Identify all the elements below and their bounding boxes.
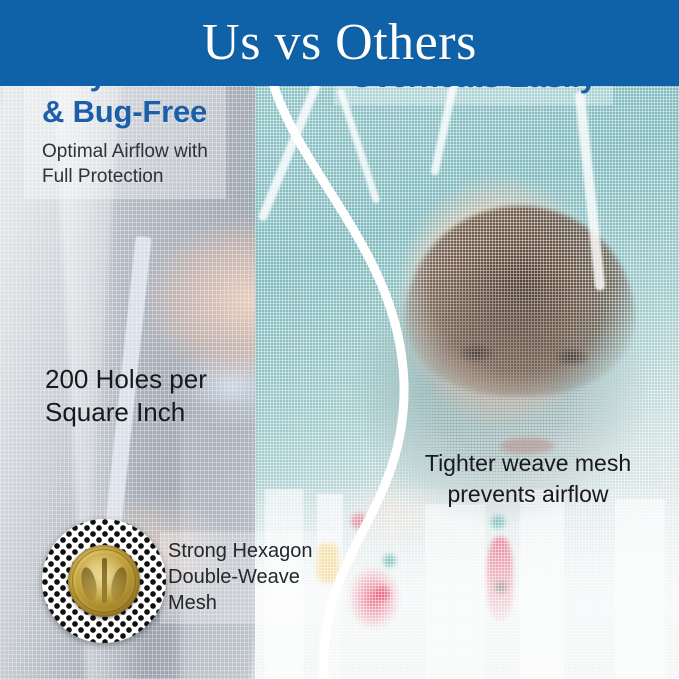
mesh-line3: Mesh xyxy=(168,590,313,616)
coin-icon xyxy=(68,545,140,617)
mesh-line1: Strong Hexagon xyxy=(168,538,313,564)
mesh-line2: Double-Weave xyxy=(168,564,313,590)
comparison-infographic: Us vs Others Stays Cool & Bug-Free Optim… xyxy=(0,0,679,679)
holes-line2: Square Inch xyxy=(45,396,207,429)
right-caption-text: Tighter weave mesh prevents airflow xyxy=(392,448,664,510)
mesh-magnifier-badge xyxy=(42,519,166,643)
right-caption-line2: prevents airflow xyxy=(392,479,664,510)
holes-line1: 200 Holes per xyxy=(45,363,207,396)
left-subheading-line1: Optimal Airflow with xyxy=(42,139,208,164)
left-subheading-line2: Full Protection xyxy=(42,164,208,189)
mesh-description-text: Strong Hexagon Double-Weave Mesh xyxy=(160,532,343,624)
right-caption-line1: Tighter weave mesh xyxy=(392,448,664,479)
holes-per-inch-text: 200 Holes per Square Inch xyxy=(45,363,207,429)
left-heading-line2: & Bug-Free xyxy=(42,93,208,130)
header-banner: Us vs Others xyxy=(0,0,679,86)
page-title: Us vs Others xyxy=(202,17,477,69)
coin-ring xyxy=(72,549,136,613)
